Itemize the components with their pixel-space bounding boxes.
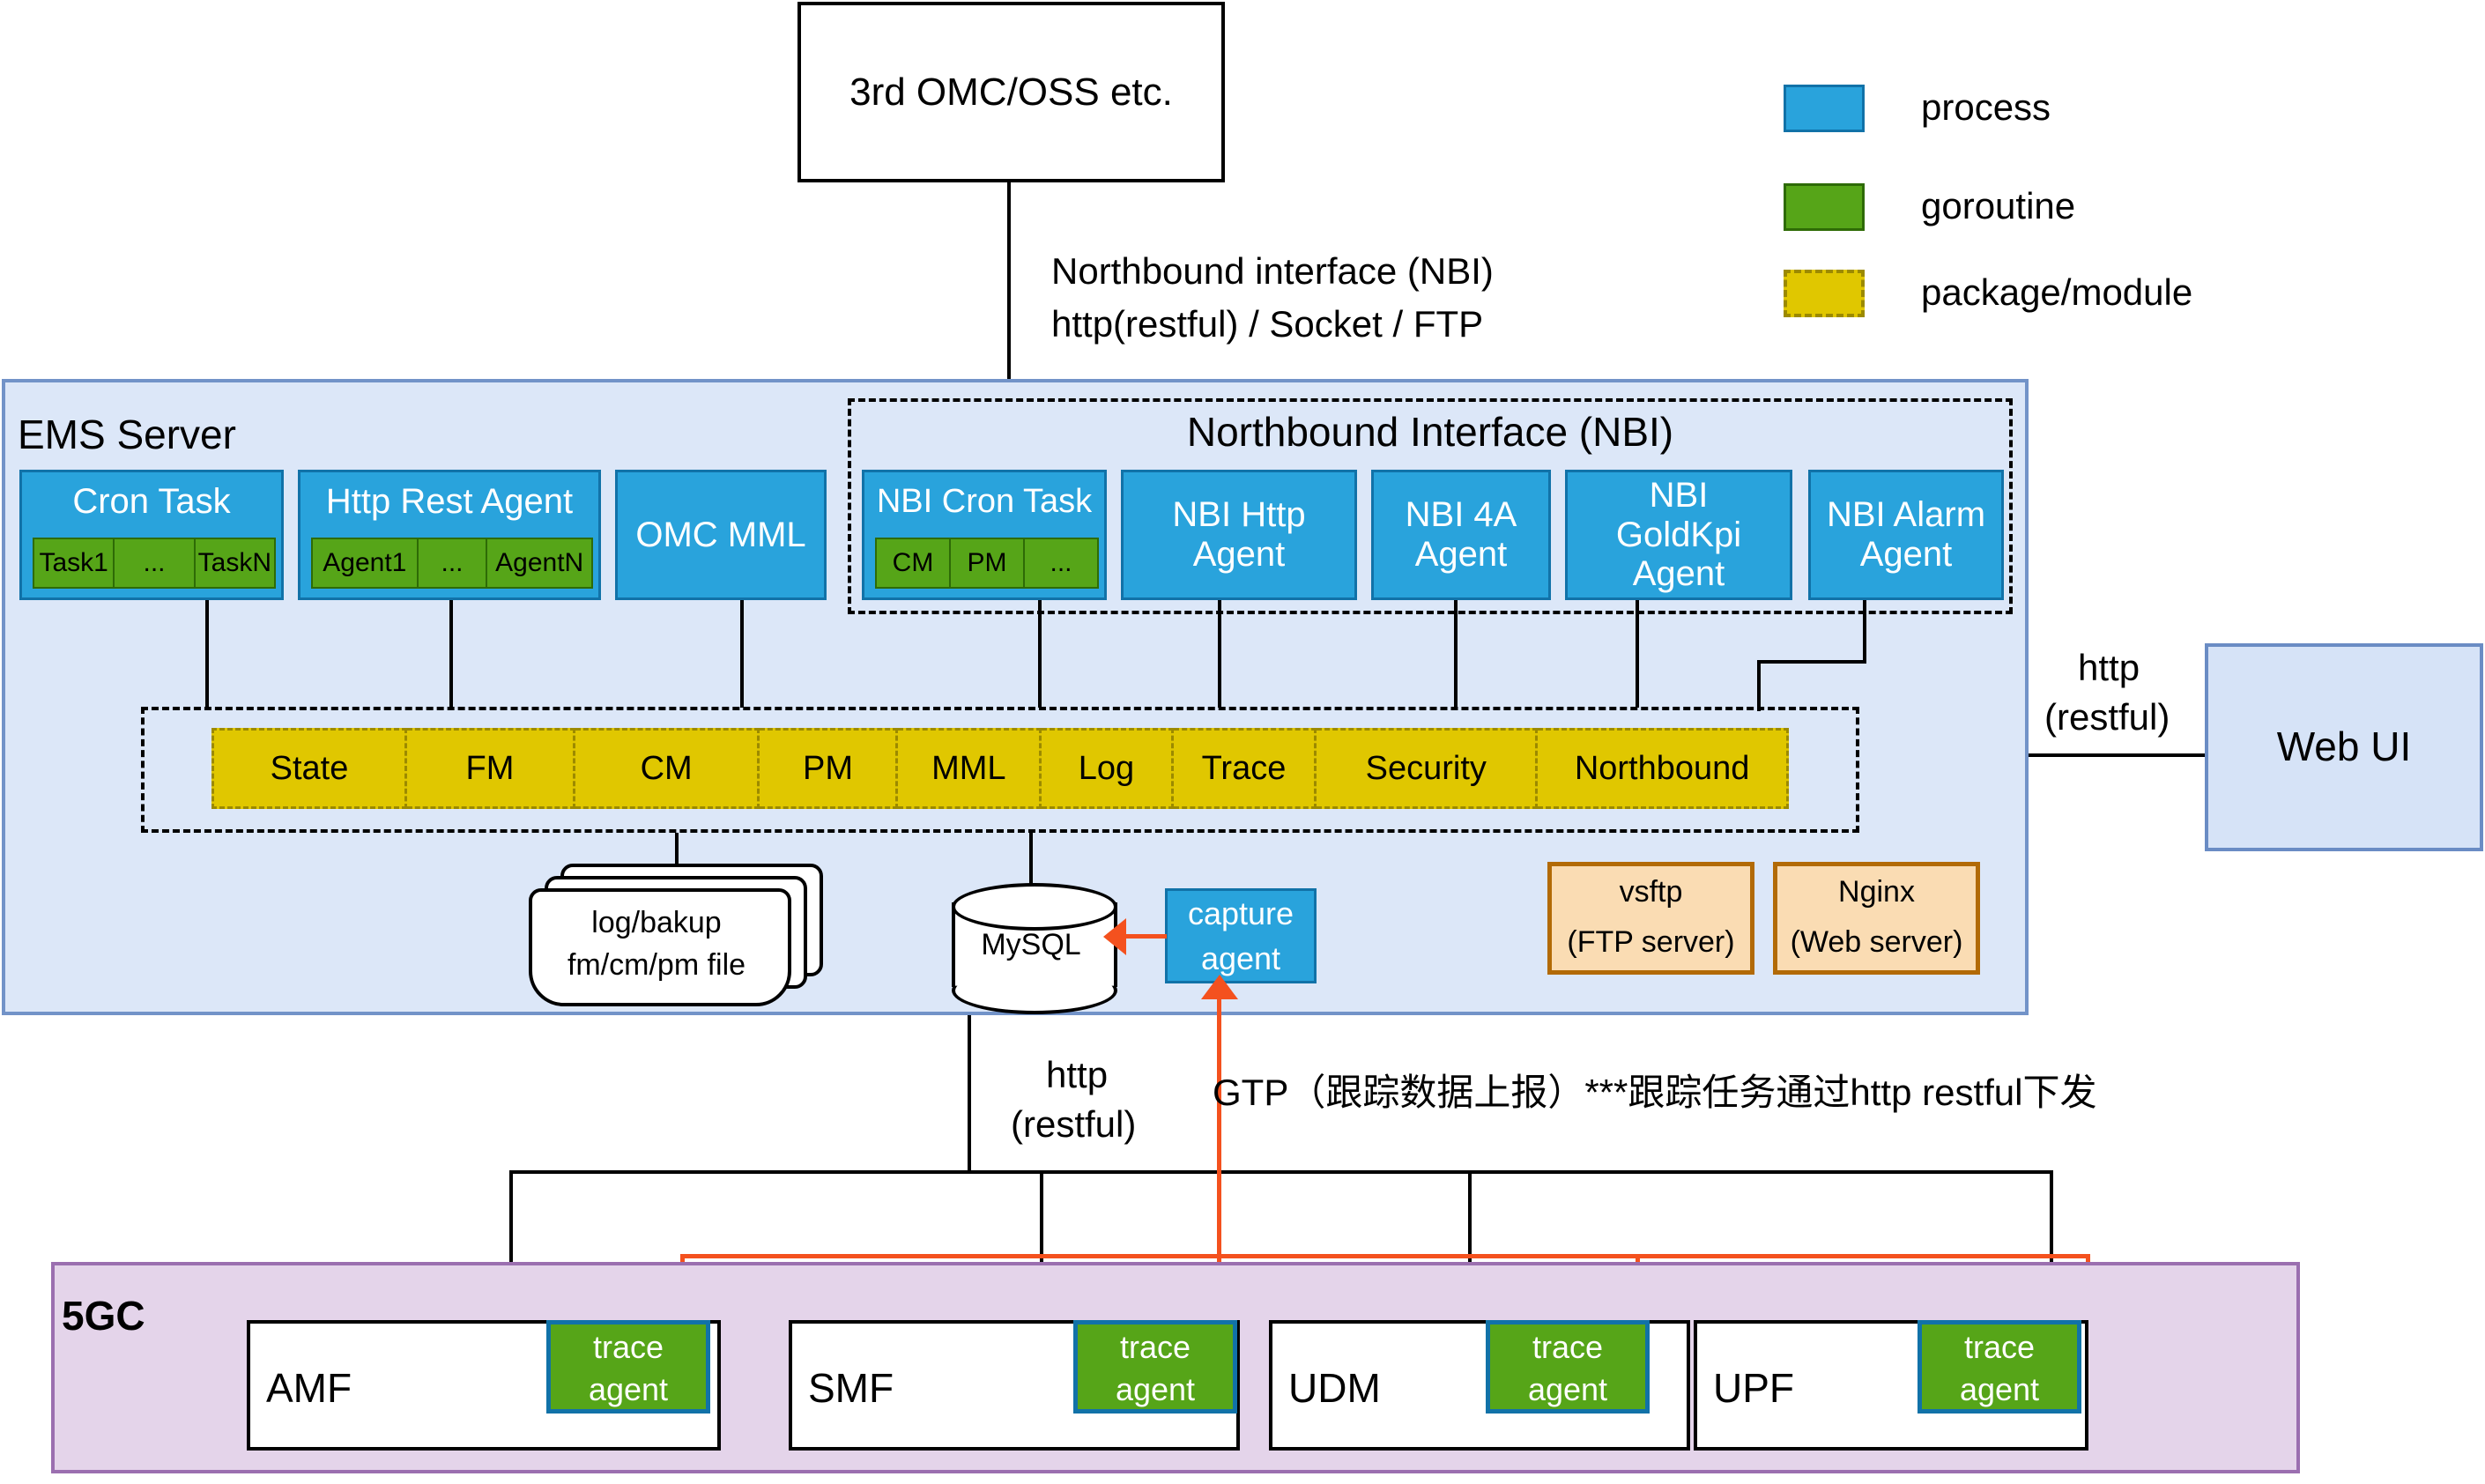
gtp-note-label: GTP（跟踪数据上报）***跟踪任务通过http restful下发 [1213, 1063, 2096, 1117]
process-nbi-goldkpi-agent[interactable]: NBI GoldKpi Agent [1565, 470, 1792, 600]
process-capture-agent[interactable]: capture agent [1165, 888, 1317, 983]
5gc-bus-horizontal [509, 1170, 2053, 1174]
5gc-title: 5GC [62, 1292, 145, 1339]
web-ui-box[interactable]: Web UI [2205, 643, 2483, 851]
process-nbi-cron-task-goroutines: CM PM ... [875, 538, 1099, 589]
module-state[interactable]: State [211, 728, 407, 809]
connector-nbi-cron-task [1038, 600, 1042, 708]
trace-agent-amf[interactable]: trace agent [546, 1320, 710, 1414]
goroutine-swatch [1784, 183, 1865, 231]
connector-http-rest-agent [449, 600, 453, 708]
module-mml[interactable]: MML [898, 728, 1042, 809]
goroutine-item[interactable]: Agent1 [311, 538, 419, 589]
third-party-omc-oss-label: 3rd OMC/OSS etc. [849, 70, 1173, 114]
http-restful-label-line1: http [1046, 1054, 1108, 1096]
http-restful-trunk [968, 1015, 971, 1174]
vsftp-label-line1: vsftp [1552, 866, 1750, 917]
mysql-database-icon: MySQL [952, 883, 1110, 1006]
server-nginx: Nginx (Web server) [1773, 862, 1980, 975]
goroutine-item[interactable]: CM [875, 538, 951, 589]
web-ui-label: Web UI [2277, 724, 2412, 770]
connector-cron-task [205, 600, 209, 708]
goroutine-item[interactable]: PM [951, 538, 1025, 589]
capture-to-mysql-arrow-line [1121, 934, 1167, 939]
goroutine-item[interactable]: TaskN [196, 538, 276, 589]
module-log[interactable]: Log [1042, 728, 1174, 809]
legend: process goroutine package/module [1784, 85, 2330, 314]
connector-omc-mml [740, 600, 744, 708]
capture-agent-label-line2: agent [1168, 937, 1314, 981]
process-nbi-goldkpi-agent-label: NBI GoldKpi Agent [1582, 476, 1776, 594]
process-omc-mml-label: OMC MML [635, 516, 805, 555]
connector-mysql [1029, 833, 1033, 886]
module-cm[interactable]: CM [575, 728, 760, 809]
gtp-bus-horizontal [680, 1254, 2090, 1258]
web-ui-link-label-line1: http [2078, 647, 2140, 689]
trace-agent-udm-line2: agent [1490, 1370, 1645, 1409]
nginx-label-line2: (Web server) [1777, 917, 1976, 967]
nbi-group-title: Northbound Interface (NBI) [848, 407, 2013, 458]
process-http-rest-agent-goroutines: Agent1 ... AgentN [311, 538, 593, 589]
trace-agent-smf-line1: trace [1078, 1324, 1233, 1370]
mysql-label: MySQL [952, 925, 1110, 964]
module-fm[interactable]: FM [407, 728, 575, 809]
architecture-diagram: 3rd OMC/OSS etc. Northbound interface (N… [0, 0, 2485, 1484]
trace-agent-amf-line1: trace [551, 1324, 706, 1370]
web-ui-link-line [2029, 753, 2205, 757]
module-trace[interactable]: Trace [1174, 728, 1317, 809]
process-nbi-cron-task-label: NBI Cron Task [864, 472, 1104, 531]
trace-agent-udm-line1: trace [1490, 1324, 1645, 1370]
goroutine-item[interactable]: ... [1025, 538, 1099, 589]
process-cron-task-goroutines: Task1 ... TaskN [33, 538, 276, 589]
log-backup-files-icon: log/bakup fm/cm/pm file [529, 864, 837, 996]
connector-nbi-alarm-agent-lower [1757, 660, 1761, 711]
trace-agent-upf[interactable]: trace agent [1918, 1320, 2081, 1414]
trace-agent-upf-line2: agent [1922, 1370, 2077, 1409]
process-cron-task-label: Cron Task [22, 472, 281, 531]
third-party-omc-oss-box: 3rd OMC/OSS etc. [797, 2, 1225, 182]
goroutine-item[interactable]: ... [419, 538, 488, 589]
nbi-link-label-line2: http(restful) / Socket / FTP [1051, 303, 1483, 345]
gtp-trunk-to-capture-agent [1217, 994, 1221, 1258]
trace-agent-smf[interactable]: trace agent [1073, 1320, 1237, 1414]
process-http-rest-agent[interactable]: Http Rest Agent Agent1 ... AgentN [298, 470, 601, 600]
goroutine-item[interactable]: Task1 [33, 538, 115, 589]
nf-udm-label: UDM [1288, 1364, 1381, 1412]
package-swatch [1784, 270, 1865, 317]
nf-smf-label: SMF [808, 1364, 894, 1412]
trace-agent-udm[interactable]: trace agent [1486, 1320, 1650, 1414]
connector-nbi-alarm-agent-jog [1757, 660, 1866, 664]
process-nbi-http-agent[interactable]: NBI Http Agent [1121, 470, 1357, 600]
module-pm[interactable]: PM [760, 728, 898, 809]
nf-upf-label: UPF [1713, 1364, 1794, 1412]
connector-nbi-http-agent [1218, 600, 1221, 708]
trace-agent-smf-line2: agent [1078, 1370, 1233, 1409]
connector-nbi-goldkpi-agent [1636, 600, 1639, 708]
trace-agent-upf-line1: trace [1922, 1324, 2077, 1370]
capture-agent-label-line1: capture [1168, 891, 1314, 937]
process-nbi-alarm-agent-label: NBI Alarm Agent [1822, 495, 1990, 575]
connector-nbi-alarm-agent-upper [1863, 600, 1866, 664]
process-omc-mml[interactable]: OMC MML [615, 470, 827, 600]
ems-server-title: EMS Server [18, 411, 236, 458]
goroutine-item[interactable]: ... [115, 538, 195, 589]
module-bar: State FM CM PM MML Log Trace Security No… [211, 728, 1789, 809]
gtp-trunk-arrowhead [1201, 975, 1238, 999]
process-nbi-http-agent-label: NBI Http Agent [1164, 495, 1314, 575]
connector-nbi-4a-agent [1454, 600, 1458, 708]
process-cron-task[interactable]: Cron Task Task1 ... TaskN [19, 470, 284, 600]
goroutine-item[interactable]: AgentN [487, 538, 593, 589]
capture-to-mysql-arrowhead [1103, 918, 1126, 955]
vsftp-label-line2: (FTP server) [1552, 917, 1750, 967]
cylinder-top [952, 883, 1117, 931]
process-nbi-4a-agent-label: NBI 4A Agent [1399, 495, 1523, 575]
nbi-link-label-line1: Northbound interface (NBI) [1051, 250, 1494, 293]
process-nbi-cron-task[interactable]: NBI Cron Task CM PM ... [862, 470, 1107, 600]
process-nbi-alarm-agent[interactable]: NBI Alarm Agent [1808, 470, 2004, 600]
log-backup-label-line2: fm/cm/pm file [529, 946, 784, 983]
process-swatch [1784, 85, 1865, 132]
trace-agent-amf-line2: agent [551, 1370, 706, 1409]
module-security[interactable]: Security [1317, 728, 1538, 809]
legend-label-process: process [1921, 86, 2051, 129]
nbi-link-line [1007, 182, 1011, 404]
nginx-label-line1: Nginx [1777, 866, 1976, 917]
legend-label-package: package/module [1921, 271, 2192, 314]
process-http-rest-agent-label: Http Rest Agent [300, 472, 598, 531]
nf-amf-label: AMF [266, 1364, 352, 1412]
server-vsftp: vsftp (FTP server) [1547, 862, 1754, 975]
legend-label-goroutine: goroutine [1921, 185, 2075, 227]
log-backup-label-line1: log/bakup [529, 904, 784, 941]
http-restful-label-line2: (restful) [1011, 1103, 1136, 1146]
web-ui-link-label-line2: (restful) [2044, 696, 2170, 738]
module-northbound[interactable]: Northbound [1538, 728, 1789, 809]
process-nbi-4a-agent[interactable]: NBI 4A Agent [1371, 470, 1551, 600]
